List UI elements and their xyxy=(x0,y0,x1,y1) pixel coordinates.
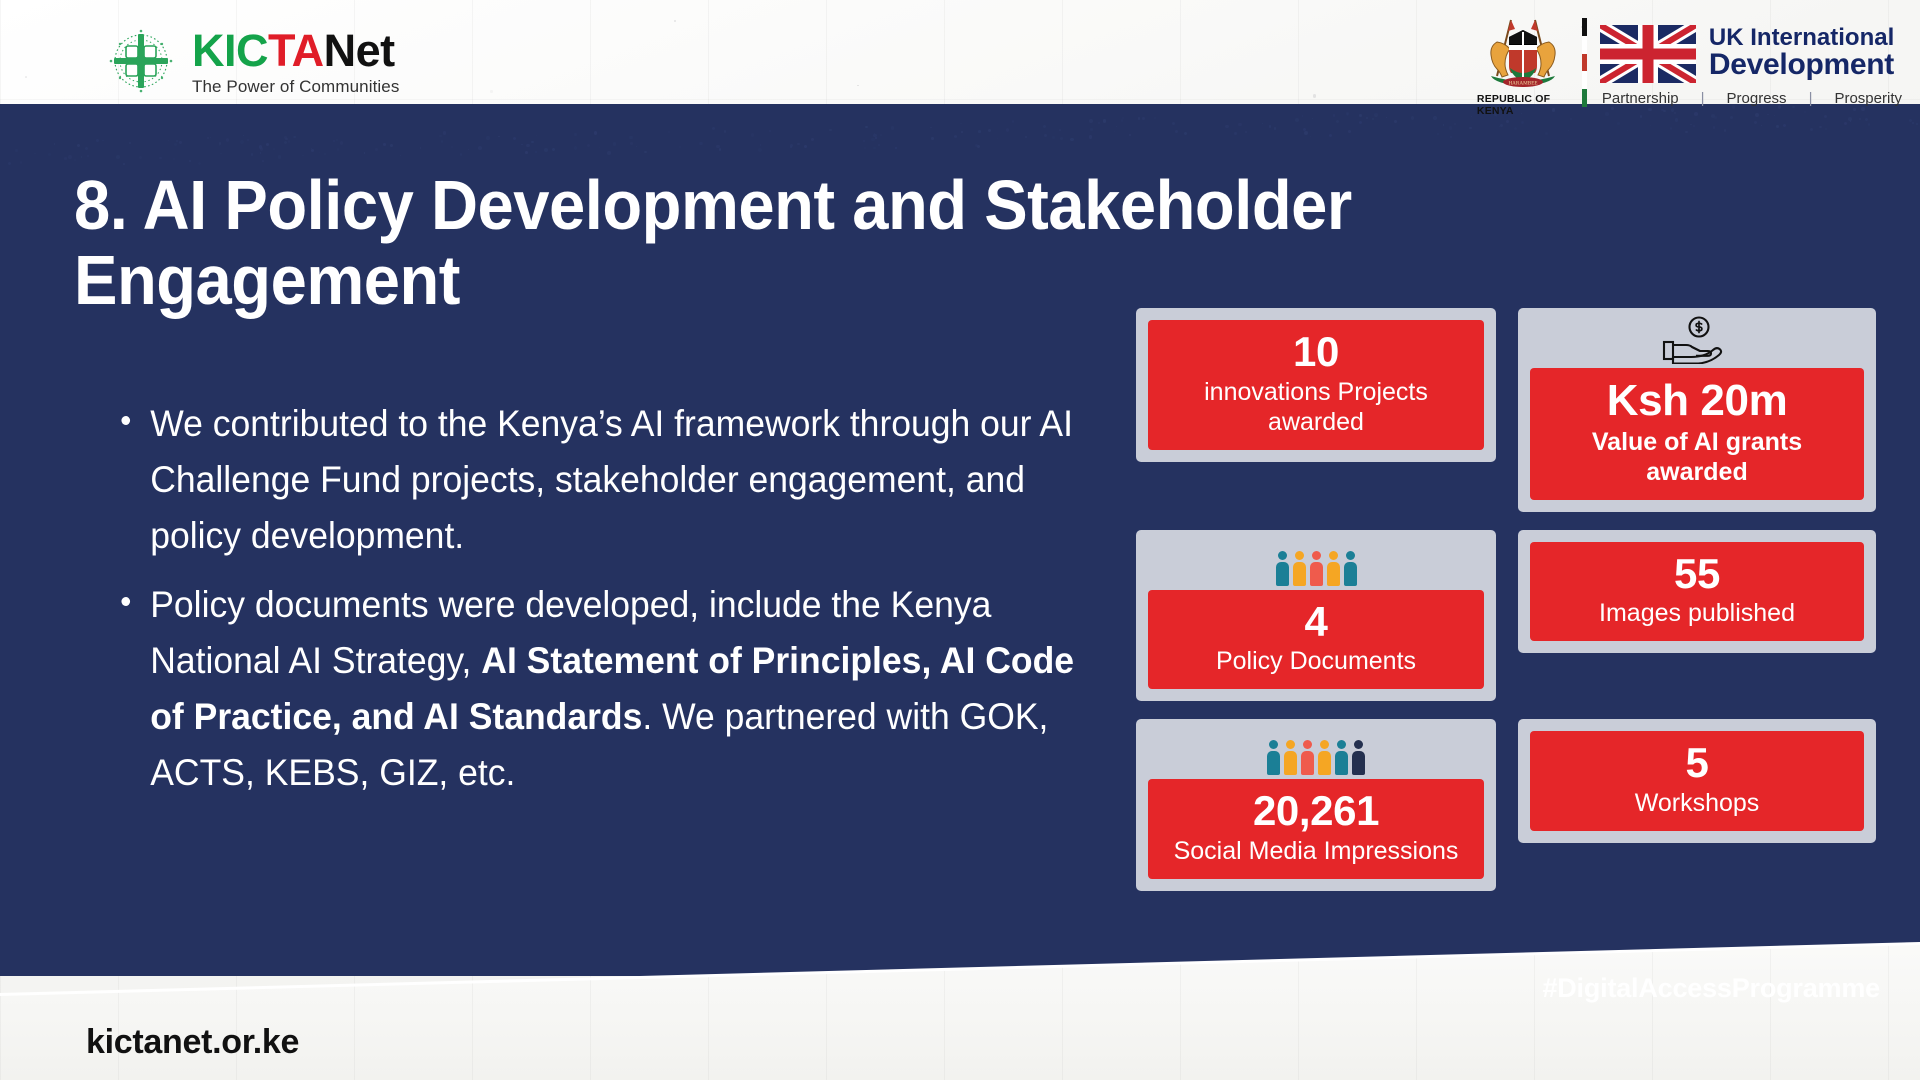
torn-edge-fleck xyxy=(284,141,287,144)
torn-edge-fleck xyxy=(1617,122,1620,125)
torn-edge-fleck xyxy=(1675,118,1679,122)
torn-edge-fleck xyxy=(552,148,555,151)
stat-card-panel: 10innovations Projects awarded xyxy=(1136,308,1496,462)
torn-edge-fleck xyxy=(333,140,335,142)
torn-edge-fleck xyxy=(1471,116,1472,117)
torn-edge-fleck xyxy=(96,139,99,142)
stat-label: innovations Projects awarded xyxy=(1160,377,1472,437)
stat-value: 10 xyxy=(1160,330,1472,375)
torn-edge-fleck xyxy=(1690,124,1691,125)
campaign-hashtag: #DigitalAccessProgramme xyxy=(1542,973,1880,1004)
torn-edge-fleck xyxy=(1670,127,1672,129)
torn-edge-fleck xyxy=(273,148,275,150)
torn-edge-tooth xyxy=(1813,127,1828,176)
torn-edge-fleck xyxy=(1269,125,1272,128)
torn-edge-fleck xyxy=(1336,120,1339,123)
torn-edge-fleck xyxy=(451,146,453,148)
torn-edge-fleck xyxy=(1310,136,1311,137)
person-icon xyxy=(1352,740,1365,775)
torn-edge-fleck xyxy=(1116,126,1117,127)
strapline-separator-2: | xyxy=(1809,90,1813,107)
torn-edge-fleck xyxy=(960,123,962,125)
torn-edge-fleck xyxy=(1044,134,1047,137)
stat-value: 4 xyxy=(1160,600,1472,645)
torn-edge-fleck xyxy=(536,135,537,136)
torn-edge-fleck xyxy=(260,152,261,153)
people-group-icon-wrap xyxy=(1276,542,1357,586)
torn-edge-fleck xyxy=(1372,118,1374,120)
torn-edge-fleck xyxy=(1302,115,1303,116)
torn-edge-tooth xyxy=(1741,124,1757,176)
wordmark-part-3: Net xyxy=(324,25,395,76)
stat-value-box: 4Policy Documents xyxy=(1148,590,1484,690)
torn-edge-fleck xyxy=(1776,125,1779,128)
person-icon xyxy=(1276,551,1289,586)
slide-canvas: KICTANet The Power of Communities xyxy=(0,0,1920,1080)
torn-edge-fleck xyxy=(629,136,632,139)
stat-card-innovation-projects: 10innovations Projects awarded xyxy=(1136,308,1496,512)
strapline-partnership: Partnership xyxy=(1602,90,1679,107)
torn-edge-fleck xyxy=(129,142,131,144)
wordmark-part-1: KIC xyxy=(192,25,268,76)
torn-edge-fleck xyxy=(535,151,537,153)
torn-edge-tooth xyxy=(1892,129,1907,176)
torn-edge-fleck xyxy=(1394,120,1397,123)
torn-edge-fleck xyxy=(1234,132,1237,135)
uk-logo-line-2: Development xyxy=(1709,50,1894,81)
torn-edge-fleck xyxy=(895,147,897,149)
torn-edge-fleck xyxy=(302,155,303,156)
torn-edge-fleck xyxy=(871,138,874,141)
torn-edge-fleck xyxy=(1521,121,1524,124)
person-icon xyxy=(1344,551,1357,586)
torn-edge-fleck xyxy=(599,147,600,148)
torn-edge-fleck xyxy=(587,144,590,147)
torn-edge-fleck xyxy=(288,140,290,142)
website-url[interactable]: kictanet.or.ke xyxy=(86,1023,299,1062)
torn-edge-fleck xyxy=(526,144,530,148)
torn-edge-fleck xyxy=(220,153,222,155)
torn-edge-fleck xyxy=(1433,116,1437,120)
torn-edge-fleck xyxy=(15,149,19,153)
stat-value: 20,261 xyxy=(1160,789,1472,834)
torn-edge-fleck xyxy=(1819,126,1821,128)
torn-edge-fleck xyxy=(87,155,89,157)
torn-edge-fleck xyxy=(226,138,229,141)
uk-international-development-logo: UK International Development Partnership… xyxy=(1600,14,1902,117)
bullet-text: We contributed to the Kenya’s AI framewo… xyxy=(150,403,1073,556)
torn-edge-fleck xyxy=(1122,117,1124,119)
torn-edge-fleck xyxy=(1570,118,1572,120)
torn-edge-fleck xyxy=(420,147,422,149)
torn-edge-fleck xyxy=(1761,125,1762,126)
coat-of-arms-label: REPUBLIC OF KENYA xyxy=(1477,93,1569,117)
torn-edge-fleck xyxy=(364,152,366,154)
torn-edge-fleck xyxy=(441,140,443,142)
torn-edge-fleck xyxy=(1912,122,1914,124)
torn-edge-fleck xyxy=(1154,117,1156,119)
stat-card-images-published: 55Images published xyxy=(1518,530,1876,702)
torn-edge-fleck xyxy=(390,144,393,147)
torn-edge-fleck xyxy=(758,148,762,152)
torn-edge-fleck xyxy=(891,126,895,130)
torn-edge-fleck xyxy=(1450,136,1452,138)
torn-edge-fleck xyxy=(864,147,866,149)
torn-edge-fleck xyxy=(594,131,597,134)
stat-card-panel: 4Policy Documents xyxy=(1136,530,1496,702)
torn-edge-fleck xyxy=(1713,126,1716,129)
torn-edge-fleck xyxy=(988,129,991,132)
torn-edge-fleck xyxy=(1142,117,1145,120)
torn-edge-fleck xyxy=(168,140,170,142)
torn-edge-fleck xyxy=(1469,127,1472,130)
stat-label: Images published xyxy=(1542,598,1852,628)
torn-edge-fleck xyxy=(375,148,378,151)
torn-edge-fleck xyxy=(668,131,670,133)
stat-card-row: 10innovations Projects awarded Ksh 20mVa… xyxy=(1136,308,1876,512)
torn-edge-fleck xyxy=(207,137,209,139)
torn-edge-fleck xyxy=(468,149,469,150)
torn-edge-fleck xyxy=(1043,125,1046,128)
stat-value-box: 5Workshops xyxy=(1530,731,1864,831)
torn-edge-fleck xyxy=(1225,125,1229,129)
torn-edge-fleck xyxy=(278,155,282,159)
torn-edge-fleck xyxy=(77,144,80,147)
torn-edge-fleck xyxy=(1366,117,1368,119)
brand-tagline: The Power of Communities xyxy=(192,78,399,95)
kenya-flag-divider xyxy=(1582,18,1587,107)
torn-edge-fleck xyxy=(1103,119,1107,123)
torn-edge-fleck xyxy=(219,145,220,146)
torn-edge-fleck xyxy=(498,136,500,138)
union-jack-icon xyxy=(1600,25,1696,83)
torn-edge-fleck xyxy=(644,151,646,153)
torn-edge-fleck xyxy=(829,129,831,131)
person-icon xyxy=(1310,551,1323,586)
torn-edge-fleck xyxy=(1089,135,1093,139)
torn-edge-fleck xyxy=(68,155,72,159)
torn-edge-fleck xyxy=(574,133,577,136)
torn-edge-fleck xyxy=(607,151,611,155)
torn-edge-fleck xyxy=(1375,115,1377,117)
torn-edge-fleck xyxy=(383,143,386,146)
torn-edge-fleck xyxy=(574,146,578,150)
stat-value-box: 20,261Social Media Impressions xyxy=(1148,779,1484,879)
stat-value-box: Ksh 20mValue of AI grants awarded xyxy=(1530,368,1864,500)
torn-edge-fleck xyxy=(865,126,867,128)
torn-edge-fleck xyxy=(311,149,314,152)
torn-edge-fleck xyxy=(64,157,66,159)
stat-card-social-media-impressions: 20,261Social Media Impressions xyxy=(1136,719,1496,891)
kictanet-logo[interactable]: KICTANet The Power of Communities xyxy=(104,24,399,98)
torn-edge-tooth xyxy=(1608,121,1624,176)
torn-edge-fleck xyxy=(1359,114,1362,117)
torn-edge-fleck xyxy=(336,139,338,141)
person-icon xyxy=(1284,740,1297,775)
stat-cards-grid: 10innovations Projects awarded Ksh 20mVa… xyxy=(1136,308,1876,909)
torn-edge-fleck xyxy=(1060,137,1063,140)
torn-edge-fleck xyxy=(1333,114,1336,117)
strapline-prosperity: Prosperity xyxy=(1834,90,1902,107)
person-icon xyxy=(1335,740,1348,775)
torn-edge-fleck xyxy=(1089,119,1093,123)
people-group-icon xyxy=(1267,740,1365,775)
stat-card-row: 20,261Social Media Impressions5Workshops xyxy=(1136,719,1876,891)
bullet-item: Policy documents were developed, include… xyxy=(150,577,1077,802)
stat-card-policy-documents: 4Policy Documents xyxy=(1136,530,1496,702)
torn-edge-fleck xyxy=(439,135,441,137)
torn-edge-fleck xyxy=(1114,131,1115,132)
torn-edge-fleck xyxy=(1754,121,1756,123)
torn-edge-fleck xyxy=(319,152,320,153)
torn-edge-fleck xyxy=(116,155,120,159)
person-icon xyxy=(1327,551,1340,586)
slide-title: 8. AI Policy Development and Stakeholder… xyxy=(74,168,1525,318)
torn-edge-fleck xyxy=(243,135,244,136)
torn-edge-fleck xyxy=(337,148,339,150)
partner-logos: HARAMBEE REPUBLIC OF KENYA xyxy=(1477,14,1902,117)
circuit-globe-icon xyxy=(104,24,178,98)
torn-edge-fleck xyxy=(679,146,681,148)
torn-edge-fleck xyxy=(1868,123,1870,125)
torn-edge-fleck xyxy=(930,127,931,128)
torn-edge-fleck xyxy=(1304,131,1308,135)
torn-edge-fleck xyxy=(873,134,876,137)
person-icon xyxy=(1267,740,1280,775)
stat-label: Workshops xyxy=(1542,788,1852,818)
torn-edge-fleck xyxy=(1175,130,1178,133)
torn-edge-fleck xyxy=(1568,130,1569,131)
stat-card-grant-value: Ksh 20mValue of AI grants awarded xyxy=(1518,308,1876,512)
torn-edge-fleck xyxy=(400,155,402,157)
kenya-coat-of-arms: HARAMBEE REPUBLIC OF KENYA xyxy=(1477,14,1569,117)
torn-edge-fleck xyxy=(262,160,264,162)
people-group-icon xyxy=(1276,551,1357,586)
torn-edge-fleck xyxy=(247,139,250,142)
torn-edge-fleck xyxy=(123,163,125,165)
torn-edge-fleck xyxy=(1783,124,1786,127)
torn-edge-fleck xyxy=(878,144,880,146)
torn-edge-fleck xyxy=(478,146,482,150)
torn-edge-fleck xyxy=(1329,134,1332,137)
torn-edge-fleck xyxy=(1865,118,1868,121)
hand-holding-coin-icon xyxy=(1658,320,1736,364)
torn-edge-fleck xyxy=(797,143,799,145)
people-group-icon-wrap xyxy=(1267,731,1365,775)
torn-edge-fleck xyxy=(954,135,957,138)
person-icon xyxy=(1318,740,1331,775)
torn-edge-tooth xyxy=(23,153,38,176)
torn-edge-fleck xyxy=(1359,121,1362,124)
torn-edge-fleck xyxy=(176,140,178,142)
torn-edge-fleck xyxy=(513,137,516,140)
stat-value: Ksh 20m xyxy=(1542,378,1852,425)
torn-edge-fleck xyxy=(1859,118,1861,120)
torn-edge-fleck xyxy=(285,138,287,140)
torn-edge-fleck xyxy=(293,136,295,138)
torn-edge-fleck xyxy=(219,142,221,144)
torn-edge-fleck xyxy=(804,145,807,148)
torn-edge-fleck xyxy=(1295,118,1299,122)
stat-value: 55 xyxy=(1542,552,1852,597)
torn-edge-fleck xyxy=(769,130,771,132)
torn-edge-fleck xyxy=(1090,128,1093,131)
stat-label: Policy Documents xyxy=(1160,646,1472,676)
torn-edge-fleck xyxy=(1693,125,1695,127)
torn-edge-fleck xyxy=(1262,123,1264,125)
torn-edge-fleck xyxy=(630,142,633,145)
torn-edge-fleck xyxy=(811,138,813,140)
torn-edge-fleck xyxy=(1916,123,1918,125)
stat-card-workshops: 5Workshops xyxy=(1518,719,1876,891)
torn-edge-fleck xyxy=(880,134,882,136)
torn-edge-fleck xyxy=(340,141,344,145)
torn-edge-fleck xyxy=(1500,124,1503,127)
torn-edge-fleck xyxy=(1098,122,1100,124)
torn-edge-fleck xyxy=(240,140,244,144)
torn-edge-fleck xyxy=(863,140,865,142)
torn-edge-fleck xyxy=(443,131,446,134)
stat-label: Social Media Impressions xyxy=(1160,836,1472,866)
torn-edge-fleck xyxy=(1312,118,1313,119)
torn-edge-fleck xyxy=(324,153,325,154)
bullet-item: We contributed to the Kenya’s AI framewo… xyxy=(150,396,1077,565)
torn-edge-fleck xyxy=(85,147,88,150)
torn-edge-fleck xyxy=(1012,120,1015,123)
torn-edge-fleck xyxy=(1006,128,1009,131)
torn-edge-fleck xyxy=(1238,123,1242,127)
torn-edge-fleck xyxy=(1844,122,1848,126)
torn-edge-fleck xyxy=(1245,131,1247,133)
torn-edge-fleck xyxy=(1545,132,1548,135)
strapline-separator-1: | xyxy=(1701,90,1705,107)
uk-logo-line-1: UK International xyxy=(1709,26,1894,50)
torn-edge-fleck xyxy=(1506,120,1510,124)
torn-edge-fleck xyxy=(260,147,263,150)
torn-edge-fleck xyxy=(173,158,175,160)
torn-edge-fleck xyxy=(139,156,142,159)
torn-edge-fleck xyxy=(1059,129,1061,131)
torn-edge-fleck xyxy=(210,137,212,139)
torn-edge-fleck xyxy=(712,127,714,129)
torn-edge-fleck xyxy=(1184,132,1187,135)
torn-edge-fleck xyxy=(978,130,981,133)
torn-edge-fleck xyxy=(521,144,522,145)
stat-value-box: 10innovations Projects awarded xyxy=(1148,320,1484,450)
torn-edge-fleck xyxy=(1437,133,1439,135)
torn-edge-fleck xyxy=(174,143,177,146)
torn-edge-fleck xyxy=(751,133,754,136)
stat-value: 5 xyxy=(1542,741,1852,786)
stat-card-panel: 5Workshops xyxy=(1518,719,1876,843)
stat-label: Value of AI grants awarded xyxy=(1542,427,1852,487)
torn-edge-fleck xyxy=(486,136,490,140)
torn-edge-fleck xyxy=(724,130,726,132)
uk-strapline: Partnership | Progress | Prosperity xyxy=(1600,90,1902,107)
stat-card-panel: 55Images published xyxy=(1518,530,1876,654)
kictanet-wordmark: KICTANet xyxy=(192,28,399,73)
torn-edge-fleck xyxy=(1172,122,1175,125)
torn-edge-fleck xyxy=(1685,131,1688,134)
torn-edge-fleck xyxy=(873,147,875,149)
torn-edge-fleck xyxy=(1443,124,1444,125)
torn-edge-fleck xyxy=(251,153,254,156)
stat-card-panel: 20,261Social Media Impressions xyxy=(1136,719,1496,891)
stat-card-panel: Ksh 20mValue of AI grants awarded xyxy=(1518,308,1876,512)
torn-edge-fleck xyxy=(1025,136,1027,138)
torn-edge-fleck xyxy=(961,131,963,133)
torn-edge-tooth xyxy=(1710,137,1725,176)
torn-edge-fleck xyxy=(189,160,191,162)
torn-edge-fleck xyxy=(531,141,533,143)
torn-edge-fleck xyxy=(1627,130,1628,131)
stat-value-box: 55Images published xyxy=(1530,542,1864,642)
torn-edge-fleck xyxy=(1348,130,1351,133)
torn-edge-fleck xyxy=(719,148,721,150)
torn-edge-fleck xyxy=(48,153,51,156)
torn-edge-fleck xyxy=(1386,117,1387,118)
svg-text:HARAMBEE: HARAMBEE xyxy=(1508,81,1537,87)
bullet-list: We contributed to the Kenya’s AI framewo… xyxy=(108,396,1078,814)
torn-edge-fleck xyxy=(54,143,56,145)
torn-edge-fleck xyxy=(1052,136,1055,139)
torn-edge-fleck xyxy=(266,143,269,146)
torn-edge-fleck xyxy=(997,138,998,139)
torn-edge-fleck xyxy=(20,161,23,164)
torn-edge-fleck xyxy=(760,144,761,145)
person-icon xyxy=(1293,551,1306,586)
person-icon xyxy=(1301,740,1314,775)
torn-edge-fleck xyxy=(1121,119,1124,122)
wordmark-part-2: TA xyxy=(268,25,324,76)
torn-edge-fleck xyxy=(8,162,11,165)
torn-edge-fleck xyxy=(613,142,617,146)
torn-edge-fleck xyxy=(699,142,702,145)
torn-edge-fleck xyxy=(1274,127,1277,130)
stat-card-row: 4Policy Documents55Images published xyxy=(1136,530,1876,702)
torn-edge-fleck xyxy=(525,151,528,154)
torn-edge-fleck xyxy=(1070,138,1073,141)
torn-edge-fleck xyxy=(102,140,104,142)
strapline-progress: Progress xyxy=(1727,90,1787,107)
torn-edge-fleck xyxy=(1411,116,1415,120)
torn-edge-fleck xyxy=(179,141,181,143)
torn-edge-fleck xyxy=(1138,117,1140,119)
torn-edge-fleck xyxy=(1129,134,1131,136)
